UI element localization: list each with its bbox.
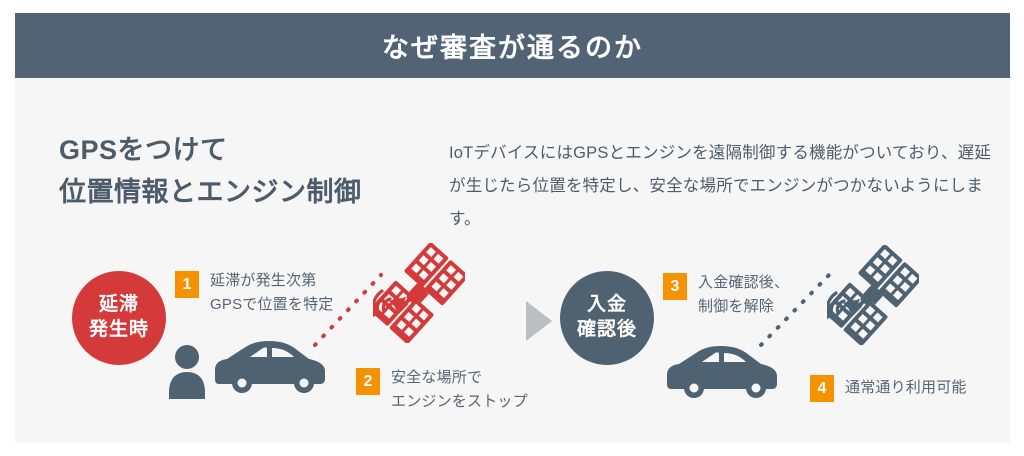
step-4: 4 通常通り利用可能 xyxy=(810,373,967,402)
car-icon-left xyxy=(211,338,329,393)
phase-badge-late-label: 延滞 発生時 xyxy=(89,293,149,342)
step-2-number: 2 xyxy=(356,368,380,395)
satellite-icon-right xyxy=(827,245,919,345)
person-icon xyxy=(167,344,207,399)
lead-heading: GPSをつけて 位置情報とエンジン制御 xyxy=(59,130,362,214)
triangle-right-icon xyxy=(526,301,552,341)
step-2-label: 安全な場所で エンジンをストップ xyxy=(391,366,528,414)
step-3-number: 3 xyxy=(663,273,687,300)
slide-card: なぜ審査が通るのか GPSをつけて 位置情報とエンジン制御 IoTデバイスにはG… xyxy=(15,13,1010,443)
signal-dotted-line-right xyxy=(757,271,833,349)
body-copy: IoTデバイスにはGPSとエンジンを遠隔制御する機能がついており、遅延が生じたら… xyxy=(449,137,994,236)
step-4-label: 通常通り利用可能 xyxy=(845,376,967,400)
step-1-number: 1 xyxy=(175,271,199,298)
phase-badge-paid-label: 入金 確認後 xyxy=(577,293,637,342)
step-4-number: 4 xyxy=(810,375,834,402)
phase-badge-paid: 入金 確認後 xyxy=(560,271,654,365)
phase-badge-late: 延滞 発生時 xyxy=(72,271,166,365)
step-1: 1 延滞が発生次第 GPSで位置を特定 xyxy=(175,269,333,317)
page-title: なぜ審査が通るのか xyxy=(382,26,643,65)
slide-header: なぜ審査が通るのか xyxy=(15,13,1010,78)
satellite-icon-left xyxy=(373,243,465,343)
step-2: 2 安全な場所で エンジンをストップ xyxy=(356,366,528,414)
car-icon-right xyxy=(663,343,781,398)
